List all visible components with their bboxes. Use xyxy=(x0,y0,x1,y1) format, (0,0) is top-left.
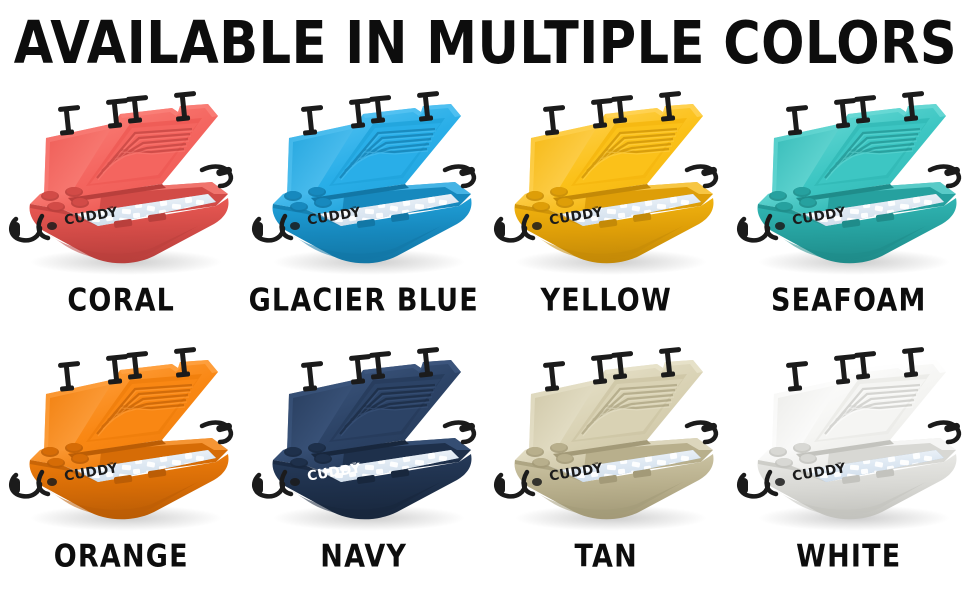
color-swatch-coral[interactable]: CUDDY ™ CORAL xyxy=(0,82,243,338)
drain-plug xyxy=(775,222,785,230)
color-swatch-white[interactable]: CUDDY ™ WHITE xyxy=(728,338,970,594)
color-name-label: TAN xyxy=(575,540,638,575)
color-swatch-yellow[interactable]: CUDDY ™ YELLOW xyxy=(485,82,728,338)
headline-title: AVAILABLE IN MULTIPLE COLORS xyxy=(13,10,956,76)
color-name-label: ORANGE xyxy=(54,540,189,575)
rod-holder xyxy=(786,361,808,392)
cooler-illustration: CUDDY ™ xyxy=(730,86,968,282)
color-swatch-seafoam[interactable]: CUDDY ™ SEAFOAM xyxy=(728,82,970,338)
cooler-illustration: CUDDY ™ xyxy=(487,86,725,282)
svg-text:™: ™ xyxy=(351,206,357,213)
cooler-illustration: CUDDY ™ xyxy=(2,342,240,538)
product-color-options-image: AVAILABLE IN MULTIPLE COLORS xyxy=(0,0,970,600)
drain-plug xyxy=(290,222,300,230)
color-name-label: WHITE xyxy=(796,540,901,575)
drain-plug xyxy=(775,478,785,486)
cooler-image-tan: CUDDY ™ xyxy=(487,342,725,538)
cooler-image-coral: CUDDY ™ xyxy=(2,86,240,282)
cooler-image-glacier-blue: CUDDY ™ xyxy=(245,86,483,282)
svg-text:™: ™ xyxy=(836,462,842,469)
svg-text:™: ™ xyxy=(109,206,115,213)
headline-banner: AVAILABLE IN MULTIPLE COLORS xyxy=(0,8,970,78)
svg-text:™: ™ xyxy=(594,206,600,213)
rod-holder xyxy=(301,105,323,136)
drain-plug xyxy=(290,478,300,486)
svg-text:™: ™ xyxy=(351,462,357,469)
color-swatch-glacier-blue[interactable]: CUDDY ™ GLACIER BLUE xyxy=(243,82,486,338)
cooler-illustration: CUDDY ™ xyxy=(730,342,968,538)
svg-text:™: ™ xyxy=(594,462,600,469)
color-name-label: SEAFOAM xyxy=(771,284,927,319)
rod-holder xyxy=(543,361,565,392)
color-swatch-orange[interactable]: CUDDY ™ ORANGE xyxy=(0,338,243,594)
cooler-image-yellow: CUDDY ™ xyxy=(487,86,725,282)
color-name-label: CORAL xyxy=(67,284,175,319)
rod-holder xyxy=(786,105,808,136)
rod-holder xyxy=(301,361,323,392)
cooler-illustration: CUDDY ™ xyxy=(245,342,483,538)
svg-text:™: ™ xyxy=(109,462,115,469)
cooler-illustration: CUDDY ™ xyxy=(487,342,725,538)
color-name-label: NAVY xyxy=(320,540,407,575)
cooler-illustration: CUDDY ™ xyxy=(245,86,483,282)
cooler-image-navy: CUDDY ™ xyxy=(245,342,483,538)
drain-plug xyxy=(47,222,57,230)
cooler-image-white: CUDDY ™ xyxy=(730,342,968,538)
color-name-label: GLACIER BLUE xyxy=(249,284,479,319)
rod-holder xyxy=(58,105,80,136)
rod-holder xyxy=(58,361,80,392)
color-swatch-navy[interactable]: CUDDY ™ NAVY xyxy=(243,338,486,594)
drain-plug xyxy=(47,478,57,486)
color-swatch-tan[interactable]: CUDDY ™ TAN xyxy=(485,338,728,594)
cooler-image-orange: CUDDY ™ xyxy=(2,342,240,538)
svg-text:™: ™ xyxy=(836,206,842,213)
rod-holder xyxy=(543,105,565,136)
drain-plug xyxy=(532,478,542,486)
color-name-label: YELLOW xyxy=(541,284,672,319)
cooler-image-seafoam: CUDDY ™ xyxy=(730,86,968,282)
cooler-illustration: CUDDY ™ xyxy=(2,86,240,282)
drain-plug xyxy=(532,222,542,230)
color-swatch-grid: CUDDY ™ CORAL xyxy=(0,82,970,594)
